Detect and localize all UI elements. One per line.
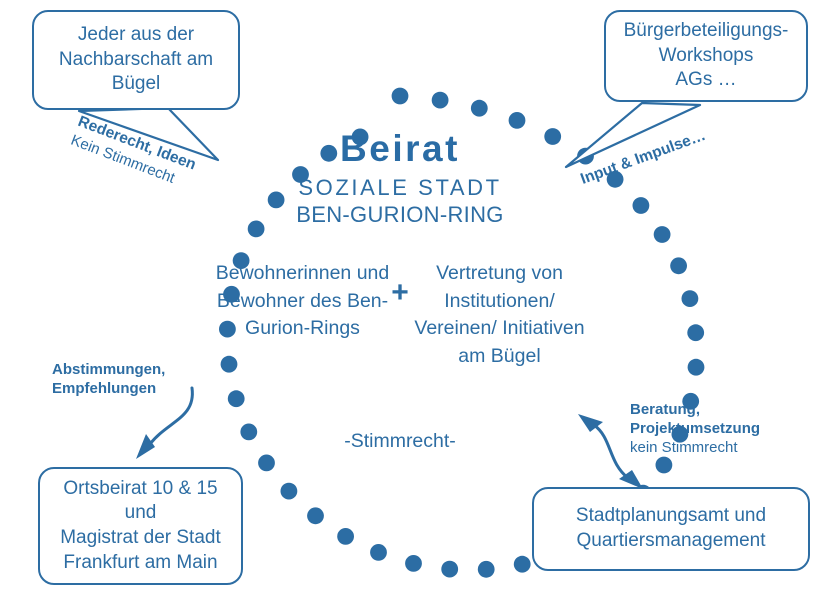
group-line: Initiativen [502,317,584,339]
ring-subheading-2: BEN-GURION-RING [260,202,540,228]
box-city-planning[interactable]: Stadtplanungsamt und Quartiersmanagement [532,487,810,571]
annotation-line: Projektumsetzung [630,419,760,438]
annotation-line: Empfehlungen [52,379,165,398]
annotation-line: Beratung, [630,400,760,419]
ring-group-residents: Bewohnerinnen und Bewohner des Ben-Gurio… [215,260,390,343]
box-line: und [50,501,231,526]
bubble-line: Bügel [44,72,228,97]
annotation-line: Input & Impulse… [578,126,709,190]
bubble-line: AGs … [616,68,796,93]
ring-heading: Beirat [260,128,540,170]
group-line: Vertretung [436,262,526,284]
diagram-canvas: Jeder aus der Nachbarschaft am Bügel Bür… [0,0,820,600]
bubble-line: Jeder aus der [44,23,228,48]
annotation-input-impulse: Input & Impulse… [578,126,709,190]
box-line: Frankfurt am Main [50,551,231,576]
box-line: Stadtplanungsamt und [544,504,798,529]
annotation-votes: Abstimmungen, Empfehlungen [52,360,165,398]
ring-subheading-1: SOZIALE STADT [260,175,540,201]
speech-bubble-neighbourhood[interactable]: Jeder aus der Nachbarschaft am Bügel [32,10,240,110]
annotation-line: kein Stimmrecht [630,438,760,457]
annotation-advice: Beratung, Projektumsetzung kein Stimmrec… [630,400,760,458]
group-line: Bewohnerinnen [216,262,352,284]
bubble-line: Nachbarschaft am [44,48,228,73]
box-line: Ortsbeirat 10 & 15 [50,477,231,502]
group-line: Vereinen/ [414,317,496,339]
box-line: Quartiersmanagement [544,529,798,554]
ring-group-institutions: Vertretung von Institutionen/ Vereinen/ … [412,260,587,371]
annotation-speech-rights: Rederecht, Ideen Kein Stimmrecht [68,112,199,193]
group-line: von [531,262,562,284]
box-line: Magistrat der Stadt [50,526,231,551]
ring-voting-note: -Stimmrecht- [300,430,500,453]
bubble-line: Workshops [616,44,796,69]
arrow-votes [136,388,192,459]
group-line: am Bügel [458,345,540,367]
group-line: Institutionen/ [444,290,555,312]
annotation-line: Abstimmungen, [52,360,165,379]
box-local-council[interactable]: Ortsbeirat 10 & 15 und Magistrat der Sta… [38,467,243,585]
bubble-line: Bürgerbeteiligungs- [616,19,796,44]
speech-bubble-participation[interactable]: Bürgerbeteiligungs- Workshops AGs … [604,10,808,102]
group-line: des [310,290,341,312]
